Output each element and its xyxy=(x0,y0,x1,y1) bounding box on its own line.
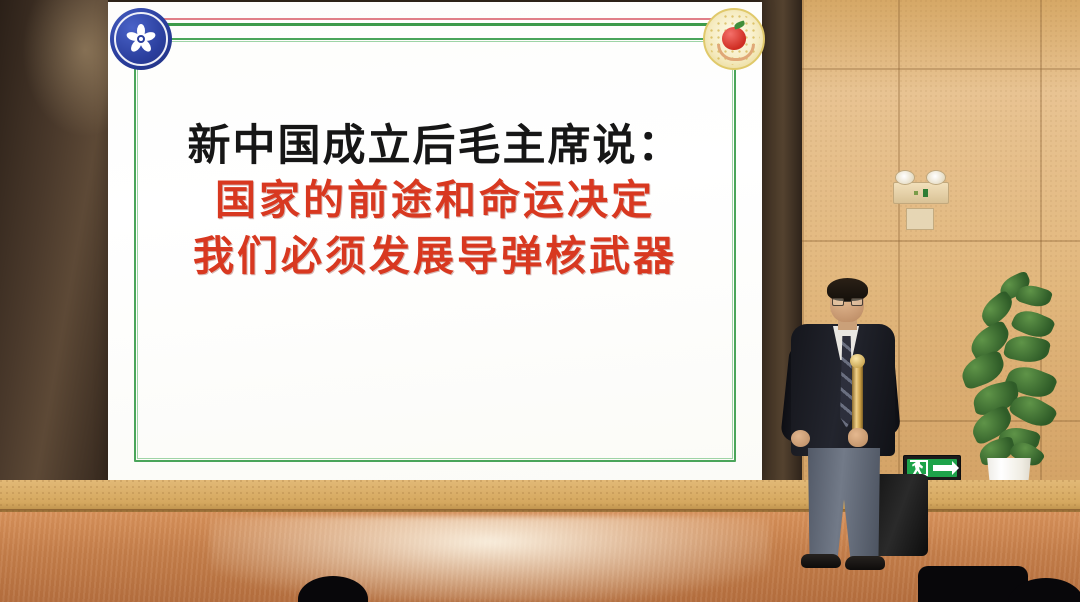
glasses-icon xyxy=(832,298,863,306)
wall-seam-horizontal-2 xyxy=(802,240,1080,242)
handheld-microphone xyxy=(852,360,863,434)
slide-line-3: 我们必须发展导弹核武器 xyxy=(134,228,736,285)
screenshot-root: 新中国成立后毛主席说： 国家的前途和命运决定 我们必须发展导弹核武器 xyxy=(0,0,1080,602)
presenter-trousers xyxy=(803,448,885,560)
presenter-right-hand xyxy=(848,428,868,447)
presenter xyxy=(785,282,900,602)
microphone-head xyxy=(850,354,865,368)
presenter-left-shoe xyxy=(801,554,841,568)
slide-line-1: 新中国成立后毛主席说： xyxy=(134,122,736,172)
floor-light-reflection xyxy=(210,516,770,602)
presenter-right-shoe xyxy=(845,556,885,570)
wall-seam-horizontal-1 xyxy=(802,68,1080,70)
wall-switch-plate[interactable] xyxy=(906,208,934,230)
left-dark-wall xyxy=(0,0,108,490)
lamp-left-icon xyxy=(895,170,915,185)
projection-screen: 新中国成立后毛主席说： 国家的前途和命运决定 我们必须发展导弹核武器 xyxy=(108,2,762,480)
slide-text-block: 新中国成立后毛主席说： 国家的前途和命运决定 我们必须发展导弹核武器 xyxy=(134,122,736,285)
slide-border-green-top xyxy=(122,23,748,26)
slide-line-2: 国家的前途和命运决定 xyxy=(134,172,736,229)
presenter-left-hand xyxy=(791,430,810,447)
lamp-right-icon xyxy=(926,170,946,185)
apple-in-hands-logo xyxy=(703,8,765,70)
chinese-academy-of-sciences-logo xyxy=(110,8,172,70)
flower-icon xyxy=(126,24,156,54)
arrow-right-icon xyxy=(933,465,953,471)
emergency-light-fixture xyxy=(893,170,949,204)
slide-border-red-top xyxy=(122,18,748,20)
